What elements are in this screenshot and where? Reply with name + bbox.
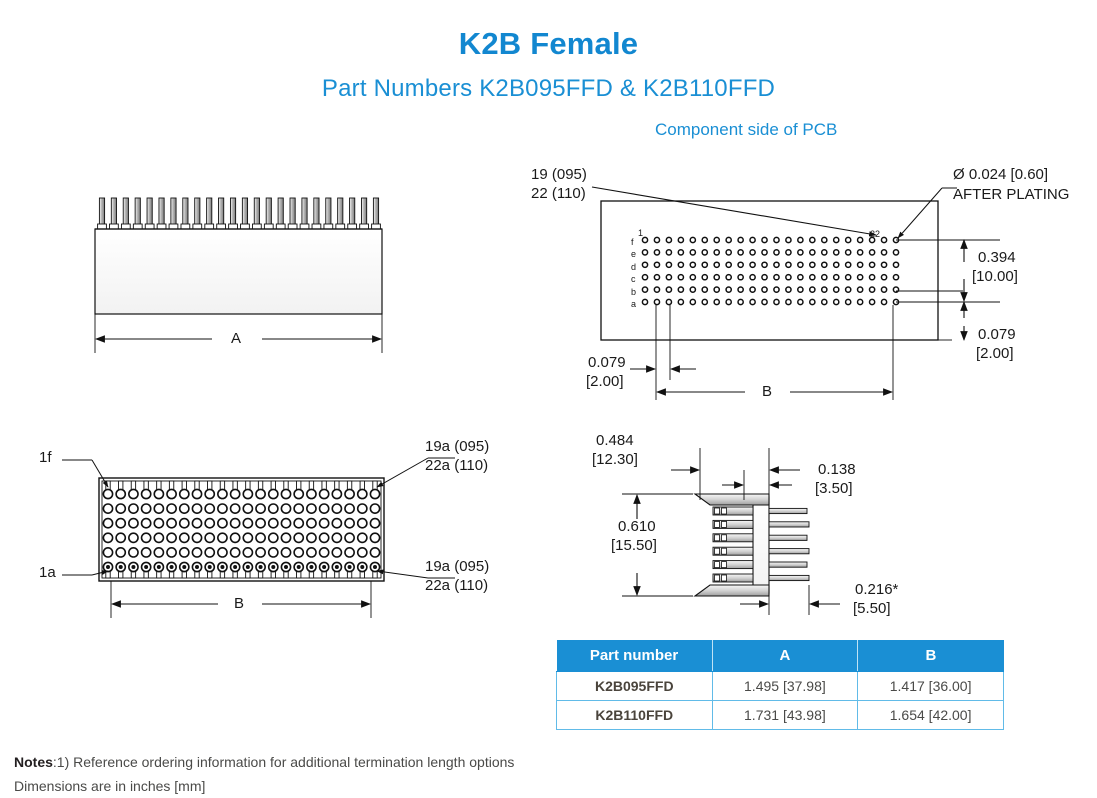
footprint-count-095: 19 (095) [531, 166, 587, 183]
notes-text-1: :1) Reference ordering information for a… [53, 754, 515, 770]
table-cell-a: 1.495 [37.98] [712, 672, 858, 701]
footprint-dim-0079r-in: 0.079 [978, 326, 1016, 343]
notes-line-1: Notes:1) Reference ordering information … [14, 750, 514, 774]
footprint-pin-last-label: 22 [870, 226, 880, 243]
pcb-footprint-drawing [592, 187, 1000, 400]
footprint-dim-0394-in: 0.394 [978, 249, 1016, 266]
bottom-view-callout-1f: 1f [39, 449, 52, 466]
footprint-after-plating-note: AFTER PLATING [953, 186, 1069, 203]
bottom-view-dim-B: B [234, 595, 244, 612]
notes-block: Notes:1) Reference ordering information … [14, 750, 514, 798]
bottom-view-drawing [62, 458, 455, 618]
bottom-view-callout-bottom-right-1: 19a (095) [425, 558, 489, 575]
footprint-dim-B: B [762, 383, 772, 400]
bottom-view-callout-1a: 1a [39, 564, 56, 581]
bottom-view-callout-top-right-1: 19a (095) [425, 438, 489, 455]
table-cell-part: K2B095FFD [557, 672, 713, 701]
table-header-b: B [858, 640, 1004, 672]
side-dim-0484-mm: [12.30] [592, 451, 638, 468]
side-dim-0610-mm: [15.50] [611, 537, 657, 554]
table-cell-b: 1.417 [36.00] [858, 672, 1004, 701]
footprint-dim-0079l-mm: [2.00] [586, 373, 624, 390]
notes-line-2: Dimensions are in inches [mm] [14, 774, 514, 798]
side-dim-0216-in: 0.216* [855, 581, 898, 598]
side-dim-0138-in: 0.138 [818, 461, 856, 478]
notes-label: Notes [14, 754, 53, 770]
side-dim-0138-mm: [3.50] [815, 480, 853, 497]
side-dim-0610-in: 0.610 [618, 518, 656, 535]
footprint-hole-diameter-note: Ø 0.024 [0.60] [953, 166, 1048, 183]
table-row: K2B095FFD 1.495 [37.98] 1.417 [36.00] [557, 672, 1004, 701]
footprint-dim-0079r-mm: [2.00] [976, 345, 1014, 362]
side-dim-0216-mm: [5.50] [853, 600, 891, 617]
footprint-dim-0394-mm: [10.00] [972, 268, 1018, 285]
bottom-view-callout-top-right-2: 22a (110) [425, 457, 488, 474]
datasheet-page: K2B Female Part Numbers K2B095FFD & K2B1… [0, 0, 1097, 798]
footprint-dim-0079l-in: 0.079 [588, 354, 626, 371]
table-header-a: A [712, 640, 858, 672]
specification-table: Part number A B K2B095FFD 1.495 [37.98] … [556, 640, 1004, 730]
footprint-pin-one-label: 1 [638, 225, 643, 242]
table-header-row: Part number A B [557, 640, 1004, 672]
front-view-dim-A: A [231, 330, 241, 347]
table-header-part-number: Part number [557, 640, 713, 672]
table-cell-b: 1.654 [42.00] [858, 701, 1004, 730]
bottom-view-callout-bottom-right-2: 22a (110) [425, 577, 488, 594]
side-dim-0484-in: 0.484 [596, 432, 634, 449]
footprint-count-110: 22 (110) [531, 185, 586, 202]
table-cell-a: 1.731 [43.98] [712, 701, 858, 730]
table-row: K2B110FFD 1.731 [43.98] 1.654 [42.00] [557, 701, 1004, 730]
footprint-row-label-a: a [631, 296, 636, 313]
table-cell-part: K2B110FFD [557, 701, 713, 730]
